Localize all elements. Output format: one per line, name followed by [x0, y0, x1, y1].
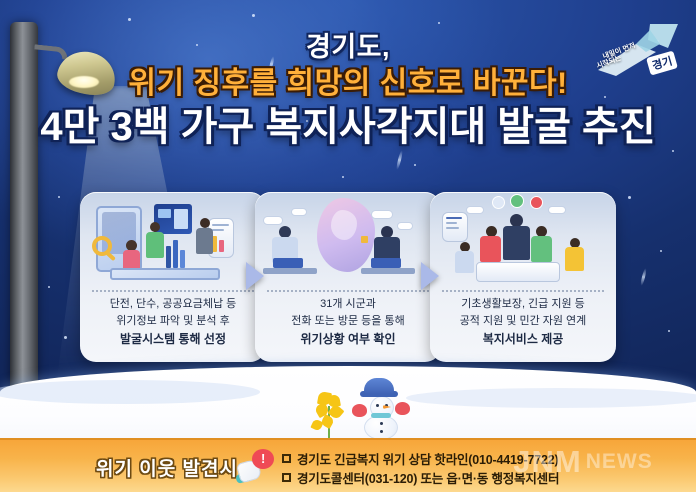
call-center-map-illustration	[255, 192, 441, 288]
flow-arrow-right-icon-1	[246, 262, 264, 290]
process-card-3-text: 기초생활보장, 긴급 지원 등 공적 지원 및 민간 자원 연계 복지서비스 제…	[430, 296, 616, 349]
yellow-flower-icon	[310, 390, 352, 438]
card-2-line-1: 31개 시군과	[255, 296, 441, 313]
contact-text-1: 경기도 긴급복지 위기 상담 핫라인(010-4419-7722)	[297, 449, 558, 468]
card-divider	[92, 290, 254, 292]
contact-row: 경기도 긴급복지 위기 상담 핫라인(010-4419-7722)	[282, 450, 690, 467]
card-divider	[442, 290, 604, 292]
page-title-line3: 4만 3백 가구 복지사각지대 발굴 추진	[0, 107, 696, 148]
process-cards: 단전, 단수, 공공요금체납 등 위기정보 파악 및 분석 후 발굴시스템 통해…	[0, 192, 696, 362]
flow-arrow-right-icon-2	[421, 262, 439, 290]
card-2-line-3: 위기상황 여부 확인	[255, 330, 441, 349]
cta-label: 위기 이웃 발견시	[96, 454, 238, 481]
contact-list: 경기도 긴급복지 위기 상담 핫라인(010-4419-7722) 경기도콜센터…	[282, 450, 690, 488]
card-3-line-1: 기초생활보장, 긴급 지원 등	[430, 296, 616, 313]
checkbox-icon	[282, 473, 291, 482]
contact-row: 경기도콜센터(031-120) 또는 읍·면·동 행정복지센터	[282, 469, 690, 486]
card-3-line-3: 복지서비스 제공	[430, 330, 616, 349]
process-card-3: 기초생활보장, 긴급 지원 등 공적 지원 및 민간 자원 연계 복지서비스 제…	[430, 192, 616, 362]
hand-raised-alert-icon: !	[238, 449, 274, 483]
card-2-line-2: 전화 또는 방문 등을 통해	[255, 313, 441, 330]
contact-text-2: 경기도콜센터(031-120) 또는 읍·면·동 행정복지센터	[297, 468, 559, 487]
card-1-line-2: 위기정보 파악 및 분석 후	[80, 313, 266, 330]
process-card-1: 단전, 단수, 공공요금체납 등 위기정보 파악 및 분석 후 발굴시스템 통해…	[80, 192, 266, 362]
gyeonggi-brand-logo: 내일이 먼저 시작되는 경기	[590, 22, 682, 78]
process-card-2: 31개 시군과 전화 또는 방문 등을 통해 위기상황 여부 확인	[255, 192, 441, 362]
card-3-line-2: 공적 지원 및 민간 자원 연계	[430, 313, 616, 330]
card-1-line-3: 발굴시스템 통해 선정	[80, 330, 266, 349]
checkbox-icon	[282, 454, 291, 463]
card-1-line-1: 단전, 단수, 공공요금체납 등	[80, 296, 266, 313]
data-analysis-illustration	[80, 192, 266, 288]
welfare-services-illustration	[430, 192, 616, 288]
snowman-icon	[352, 378, 408, 440]
poster-root: 경기도, 위기 징후를 희망의 신호로 바꾼다! 4만 3백 가구 복지사각지대…	[0, 0, 696, 492]
bottom-cta-bar: 위기 이웃 발견시 ! 경기도 긴급복지 위기 상담 핫라인(010-4419-…	[0, 438, 696, 492]
process-card-1-text: 단전, 단수, 공공요금체납 등 위기정보 파악 및 분석 후 발굴시스템 통해…	[80, 296, 266, 349]
card-divider	[267, 290, 429, 292]
process-card-2-text: 31개 시군과 전화 또는 방문 등을 통해 위기상황 여부 확인	[255, 296, 441, 349]
